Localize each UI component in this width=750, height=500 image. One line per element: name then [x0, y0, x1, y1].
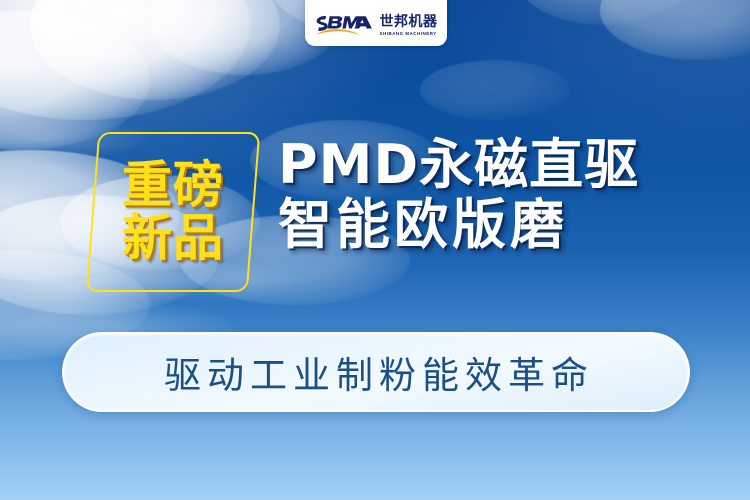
badge-line-2: 新品 [122, 213, 224, 264]
promo-banner: 世邦机器 SHIBANG MACHINERY 重磅 新品 PMD永磁直驱 智能欧… [0, 0, 750, 500]
sbm-logo-icon [315, 12, 373, 40]
subtitle-pill: 驱动工业制粉能效革命 [62, 332, 690, 412]
cloud-decoration [420, 60, 570, 120]
new-product-badge: 重磅 新品 [92, 132, 254, 292]
headline-line-2: 智能欧版磨 [278, 196, 639, 254]
badge-text-block: 重磅 新品 [92, 132, 254, 292]
cloud-decoration [520, 0, 690, 25]
brand-name-block: 世邦机器 SHIBANG MACHINERY [380, 15, 438, 36]
brand-name-cn: 世邦机器 [380, 15, 438, 29]
cloud-decoration [30, 0, 280, 100]
subtitle-text: 驱动工业制粉能效革命 [158, 345, 594, 399]
headline-line-1: PMD永磁直驱 [278, 136, 639, 194]
headline-block: PMD永磁直驱 智能欧版磨 [278, 136, 639, 255]
badge-line-1: 重磅 [122, 160, 224, 211]
cloud-decoration [600, 0, 750, 60]
cloud-decoration [0, 10, 150, 150]
logo-contents: 世邦机器 SHIBANG MACHINERY [315, 11, 438, 41]
brand-name-en: SHIBANG MACHINERY [380, 32, 438, 36]
brand-logo-box[interactable]: 世邦机器 SHIBANG MACHINERY [305, 0, 447, 46]
cloud-decoration [0, 0, 250, 120]
